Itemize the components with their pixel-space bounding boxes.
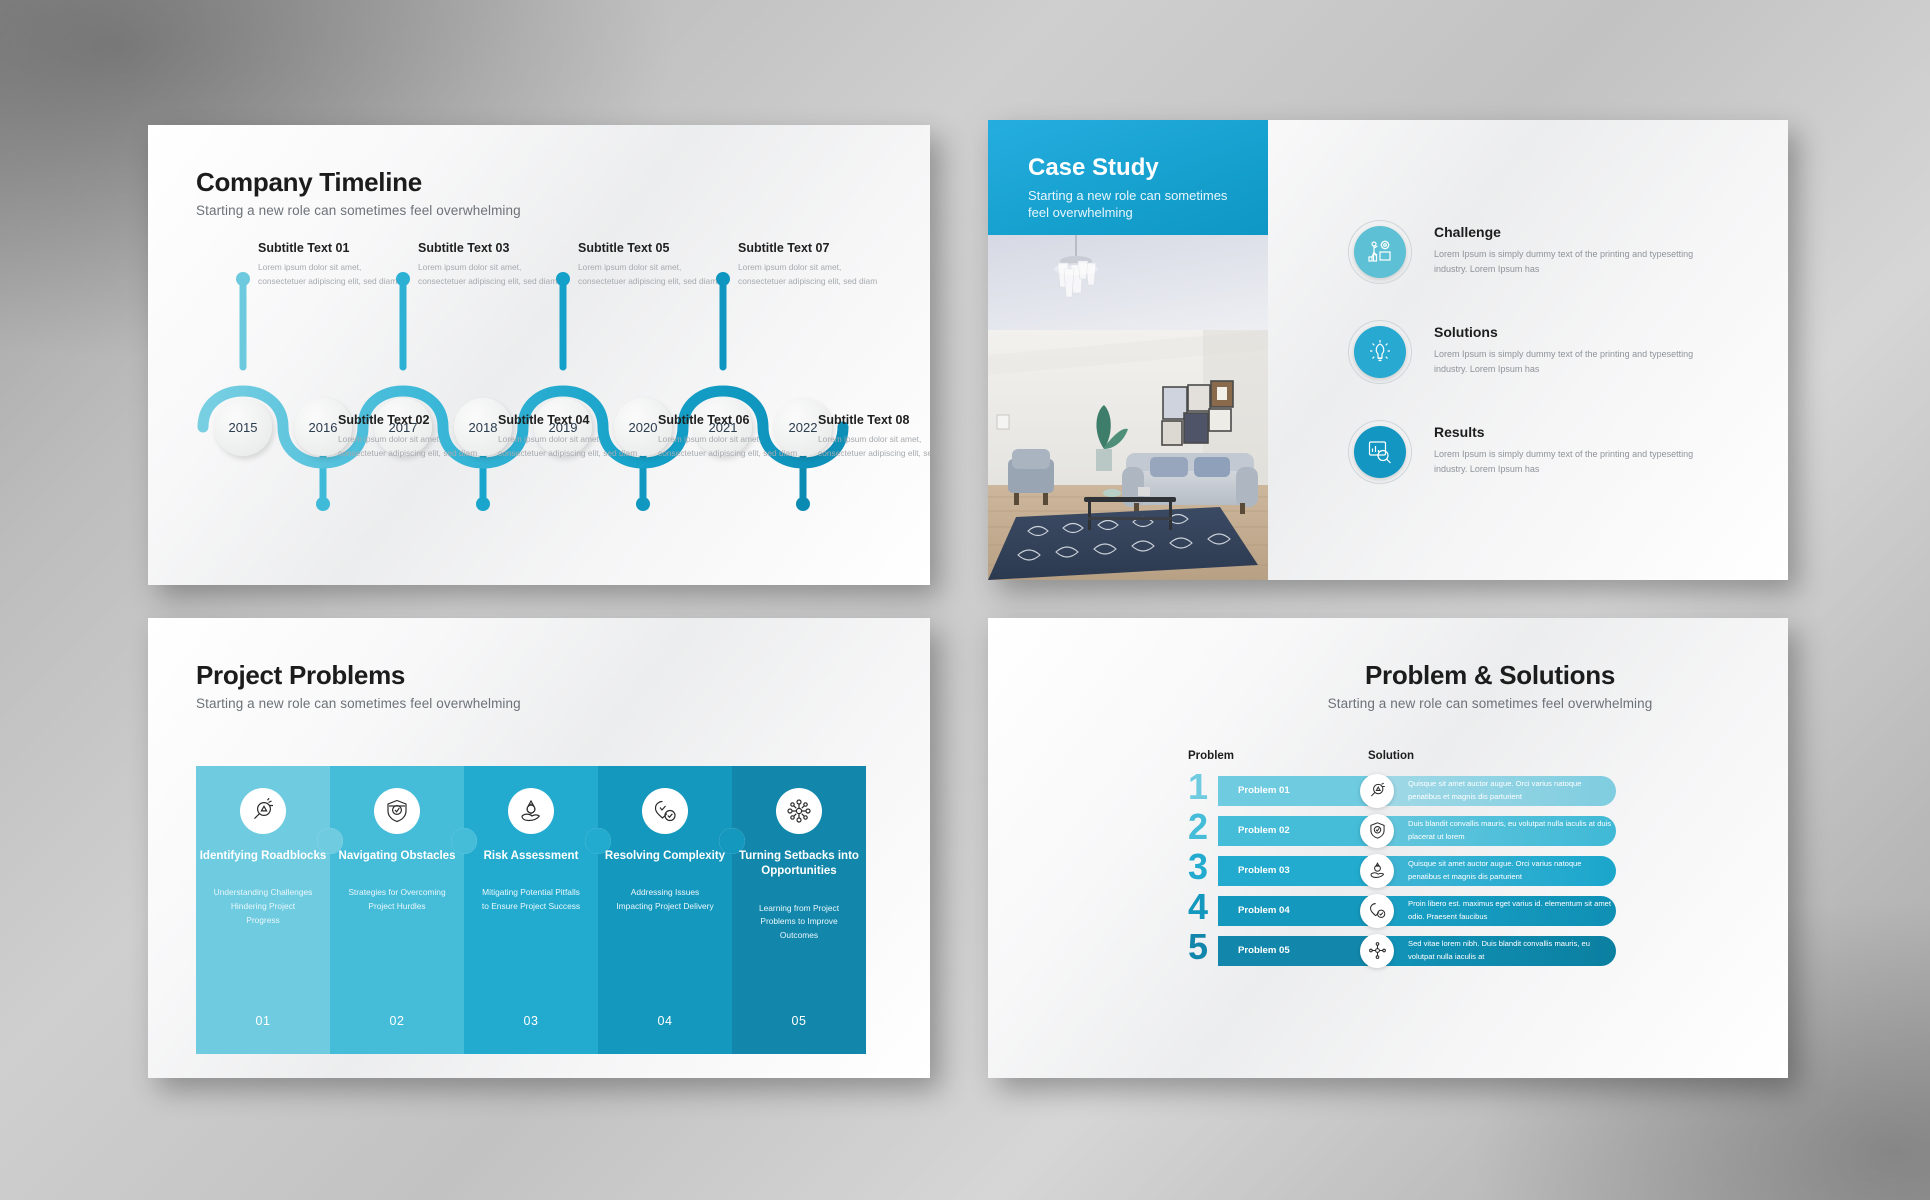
puzzle-number: 05 — [792, 1014, 807, 1028]
case-study-heading: Challenge — [1434, 224, 1724, 240]
magnifier-alert-icon — [1360, 774, 1394, 808]
case-study-text: Solutions Lorem Ipsum is simply dummy te… — [1434, 320, 1724, 378]
page-title: Problem & Solutions — [1240, 660, 1740, 691]
problem-solutions-table: Problem Solution 1 Problem 01 — [1188, 750, 1748, 974]
table-row[interactable]: 3 Problem 03 Quisque sit amet auctor aug… — [1188, 854, 1748, 887]
puzzle-number: 03 — [524, 1014, 539, 1028]
pin-check-icon — [642, 788, 688, 834]
problem-label: Problem 04 — [1218, 905, 1290, 916]
puzzle-title: Identifying Roadblocks — [200, 849, 327, 864]
puzzle-desc: Learning from Project Problems to Improv… — [749, 902, 849, 943]
case-study-items: Challenge Lorem Ipsum is simply dummy te… — [1348, 220, 1748, 520]
solution-bar[interactable]: Quisque sit amet auctor augue. Orci vari… — [1386, 856, 1616, 886]
page-title: Company Timeline — [196, 167, 521, 198]
timeline-item-desc: Lorem ipsum dolor sit amet, consectetuer… — [498, 433, 648, 460]
case-study-body: Lorem Ipsum is simply dummy text of the … — [1434, 247, 1724, 278]
timeline-item-label: Subtitle Text 01 — [258, 241, 408, 255]
hand-gear-icon — [508, 788, 554, 834]
timeline-item-06[interactable]: Subtitle Text 06 Lorem ipsum dolor sit a… — [658, 413, 808, 460]
slide-company-timeline[interactable]: Company Timeline Starting a new role can… — [148, 125, 930, 585]
magnifier-alert-icon — [240, 788, 286, 834]
case-study-icon-wrap — [1348, 320, 1412, 384]
column-header-solution: Solution — [1368, 750, 1414, 762]
table-row[interactable]: 2 Problem 02 Duis blandit convallis maur… — [1188, 814, 1748, 847]
case-study-text: Results Lorem Ipsum is simply dummy text… — [1434, 420, 1724, 478]
hand-gear-icon — [1360, 854, 1394, 888]
timeline-item-desc: Lorem ipsum dolor sit amet, consectetuer… — [418, 261, 568, 288]
solution-text: Duis blandit convallis mauris, eu volutp… — [1408, 818, 1616, 842]
timeline-item-01[interactable]: Subtitle Text 01 Lorem ipsum dolor sit a… — [258, 241, 408, 288]
icon-outer-ring — [1348, 320, 1412, 384]
living-room-photo-illustration — [988, 235, 1268, 580]
problem-bar[interactable]: Problem 01 — [1218, 776, 1368, 806]
case-study-body: Lorem Ipsum is simply dummy text of the … — [1434, 447, 1724, 478]
solution-text: Sed vitae lorem nibh. Duis blandit conva… — [1408, 938, 1616, 962]
timeline-item-07[interactable]: Subtitle Text 07 Lorem ipsum dolor sit a… — [738, 241, 888, 288]
timeline-item-desc: Lorem ipsum dolor sit amet, consectetuer… — [738, 261, 888, 288]
case-study-photo — [988, 235, 1268, 580]
network-node-icon — [1360, 934, 1394, 968]
timeline-item-desc: Lorem ipsum dolor sit amet, consectetuer… — [578, 261, 728, 288]
pin-check-icon — [1360, 894, 1394, 928]
problem-bar[interactable]: Problem 05 — [1218, 936, 1368, 966]
page-subtitle: Starting a new role can sometimes feel o… — [196, 203, 521, 218]
puzzle-piece-04[interactable]: Resolving Complexity Addressing Issues I… — [598, 766, 732, 1054]
puzzle-piece-05[interactable]: Turning Setbacks into Opportunities Lear… — [732, 766, 866, 1054]
case-study-heading: Results — [1434, 424, 1724, 440]
puzzle-number: 01 — [256, 1014, 271, 1028]
slide-case-study[interactable]: Case Study Starting a new role can somet… — [988, 120, 1788, 580]
puzzle-title: Risk Assessment — [484, 849, 579, 864]
timeline-item-02[interactable]: Subtitle Text 02 Lorem ipsum dolor sit a… — [338, 413, 488, 460]
solution-bar[interactable]: Duis blandit convallis mauris, eu volutp… — [1386, 816, 1616, 846]
solution-text: Proin libero est. maximus eget varius id… — [1408, 898, 1616, 922]
solution-text: Quisque sit amet auctor augue. Orci vari… — [1408, 778, 1616, 802]
case-study-heading: Solutions — [1434, 324, 1724, 340]
table-rows: 1 Problem 01 Quisque sit amet auctor aug… — [1188, 774, 1748, 967]
case-study-item-results[interactable]: Results Lorem Ipsum is simply dummy text… — [1348, 420, 1748, 484]
table-row[interactable]: 5 Problem 05 Sed vitae lorem nibh. — [1188, 934, 1748, 967]
solution-text: Quisque sit amet auctor augue. Orci vari… — [1408, 858, 1616, 882]
case-study-body: Lorem Ipsum is simply dummy text of the … — [1434, 347, 1724, 378]
case-study-text: Challenge Lorem Ipsum is simply dummy te… — [1434, 220, 1724, 278]
solution-bar[interactable]: Quisque sit amet auctor augue. Orci vari… — [1386, 776, 1616, 806]
timeline-item-label: Subtitle Text 06 — [658, 413, 808, 427]
puzzle-number: 02 — [390, 1014, 405, 1028]
timeline-item-08[interactable]: Subtitle Text 08 Lorem ipsum dolor sit a… — [818, 413, 930, 460]
page-title: Project Problems — [196, 660, 521, 691]
timeline-item-03[interactable]: Subtitle Text 03 Lorem ipsum dolor sit a… — [418, 241, 568, 288]
problem-bar[interactable]: Problem 04 — [1218, 896, 1368, 926]
puzzle-piece-02[interactable]: Navigating Obstacles Strategies for Over… — [330, 766, 464, 1054]
icon-outer-ring — [1348, 220, 1412, 284]
problem-bar[interactable]: Problem 02 — [1218, 816, 1368, 846]
problem-solutions-header: Problem & Solutions Starting a new role … — [1240, 660, 1740, 711]
puzzle-desc: Addressing Issues Impacting Project Deli… — [615, 886, 715, 913]
slide-project-problems[interactable]: Project Problems Starting a new role can… — [148, 618, 930, 1078]
puzzle-piece-01[interactable]: Identifying Roadblocks Understanding Cha… — [196, 766, 330, 1054]
puzzle-piece-row: Identifying Roadblocks Understanding Cha… — [196, 766, 866, 1054]
problem-label: Problem 02 — [1218, 825, 1290, 836]
problem-label: Problem 01 — [1218, 785, 1290, 796]
timeline-header: Company Timeline Starting a new role can… — [196, 167, 521, 218]
puzzle-desc: Strategies for Overcoming Project Hurdle… — [347, 886, 447, 913]
problem-label: Problem 05 — [1218, 945, 1290, 956]
project-problems-header: Project Problems Starting a new role can… — [196, 660, 521, 711]
page-subtitle: Starting a new role can sometimes feel o… — [1028, 187, 1248, 222]
case-study-icon-wrap — [1348, 420, 1412, 484]
timeline-item-desc: Lorem ipsum dolor sit amet, consectetuer… — [818, 433, 930, 460]
timeline-item-label: Subtitle Text 07 — [738, 241, 888, 255]
problem-bar[interactable]: Problem 03 — [1218, 856, 1368, 886]
timeline-item-label: Subtitle Text 05 — [578, 241, 728, 255]
puzzle-desc: Mitigating Potential Pitfalls to Ensure … — [481, 886, 581, 913]
row-number: 3 — [1188, 849, 1208, 885]
page-subtitle: Starting a new role can sometimes feel o… — [196, 696, 521, 711]
row-number: 2 — [1188, 809, 1208, 845]
timeline-item-04[interactable]: Subtitle Text 04 Lorem ipsum dolor sit a… — [498, 413, 648, 460]
page-subtitle: Starting a new role can sometimes feel o… — [1240, 696, 1740, 711]
icon-outer-ring — [1348, 420, 1412, 484]
case-study-item-solutions[interactable]: Solutions Lorem Ipsum is simply dummy te… — [1348, 320, 1748, 384]
timeline-item-desc: Lorem ipsum dolor sit amet, consectetuer… — [338, 433, 488, 460]
puzzle-title: Resolving Complexity — [605, 849, 725, 864]
case-study-item-challenge[interactable]: Challenge Lorem Ipsum is simply dummy te… — [1348, 220, 1748, 284]
timeline-item-label: Subtitle Text 03 — [418, 241, 568, 255]
shield-check-icon — [1360, 814, 1394, 848]
puzzle-desc: Understanding Challenges Hindering Proje… — [213, 886, 313, 927]
timeline-item-label: Subtitle Text 04 — [498, 413, 648, 427]
page-title: Case Study — [1028, 154, 1159, 182]
timeline-year-2015[interactable]: 2015 — [214, 398, 272, 456]
solution-bar[interactable]: Proin libero est. maximus eget varius id… — [1386, 896, 1616, 926]
table-row[interactable]: 1 Problem 01 Quisque sit amet auctor aug… — [1188, 774, 1748, 807]
sofa — [1122, 453, 1258, 514]
puzzle-number: 04 — [658, 1014, 673, 1028]
puzzle-title: Navigating Obstacles — [339, 849, 456, 864]
puzzle-title: Turning Setbacks into Opportunities — [732, 849, 866, 880]
row-number: 5 — [1188, 929, 1208, 965]
shield-check-icon — [374, 788, 420, 834]
network-node-icon — [776, 788, 822, 834]
case-study-icon-wrap — [1348, 220, 1412, 284]
timeline-item-label: Subtitle Text 08 — [818, 413, 930, 427]
column-header-problem: Problem — [1188, 750, 1368, 762]
table-row[interactable]: 4 Problem 04 Proin libero est. maximus e… — [1188, 894, 1748, 927]
puzzle-piece-03[interactable]: Risk Assessment Mitigating Potential Pit… — [464, 766, 598, 1054]
timeline-item-desc: Lorem ipsum dolor sit amet, consectetuer… — [258, 261, 408, 288]
slide-problem-solutions[interactable]: Problem & Solutions Starting a new role … — [988, 618, 1788, 1078]
row-number: 1 — [1188, 769, 1208, 805]
timeline-item-label: Subtitle Text 02 — [338, 413, 488, 427]
problem-label: Problem 03 — [1218, 865, 1290, 876]
solution-bar[interactable]: Sed vitae lorem nibh. Duis blandit conva… — [1386, 936, 1616, 966]
row-number: 4 — [1188, 889, 1208, 925]
table-column-headers: Problem Solution — [1188, 750, 1748, 762]
timeline-item-desc: Lorem ipsum dolor sit amet, consectetuer… — [658, 433, 808, 460]
case-study-title-band: Case Study Starting a new role can somet… — [988, 120, 1268, 235]
timeline-stage: 2015 2016 2017 2018 2019 2020 2021 2022 … — [148, 229, 930, 549]
timeline-item-05[interactable]: Subtitle Text 05 Lorem ipsum dolor sit a… — [578, 241, 728, 288]
